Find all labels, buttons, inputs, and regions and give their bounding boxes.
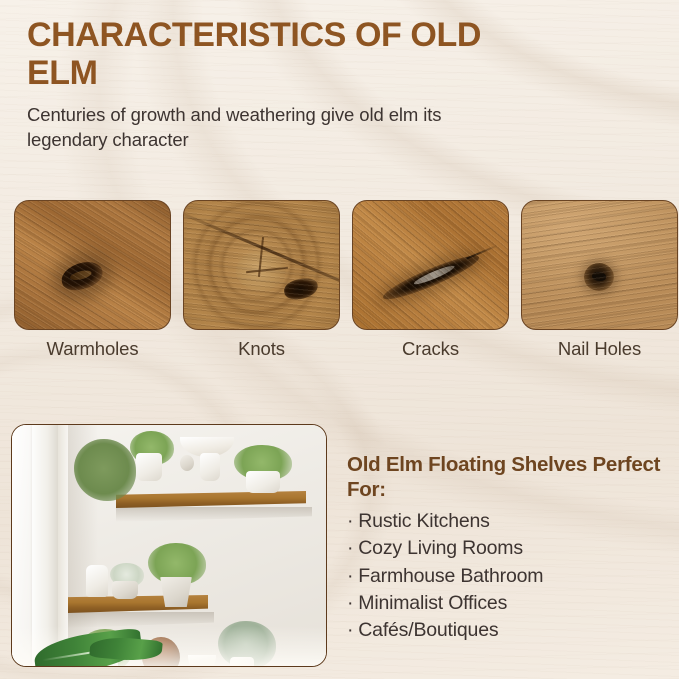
wood-crack-swatch [352,200,509,330]
floating-shelves-room-photo [11,424,327,667]
wood-knot-swatch [183,200,340,330]
warmhole-detail-icon [58,258,105,293]
uses-title: Old Elm Floating Shelves Perfect For: [347,452,667,502]
plant-olive-branch [74,439,136,501]
list-item: ·Minimalist Offices [347,590,667,617]
bullet-dot-icon: · [347,592,353,614]
page-subtitle: Centuries of growth and weathering give … [27,103,497,152]
pot-succulent [112,581,138,599]
crack-detail-icon [380,249,482,305]
uses-list: ·Rustic Kitchens ·Cozy Living Rooms ·Far… [347,508,667,644]
list-item: ·Farmhouse Bathroom [347,563,667,590]
page-title: CHARACTERISTICS OF OLD ELM [27,16,497,92]
pot-white-stone [246,471,280,493]
pot-small-round [180,455,194,471]
list-item: ·Cafés/Boutiques [347,617,667,644]
characteristic-card-knots: Knots [183,200,340,360]
list-item-label: Cozy Living Rooms [358,537,523,559]
bullet-dot-icon: · [347,510,353,532]
characteristic-label: Cracks [352,338,509,360]
characteristic-label: Knots [183,338,340,360]
wood-warmhole-swatch [14,200,171,330]
nail-hole-detail-icon [584,263,614,291]
characteristic-card-warmholes: Warmholes [14,200,171,360]
vase-ribbed-white [86,565,108,597]
list-item-label: Cafés/Boutiques [358,619,498,641]
knot-dark-blob-icon [283,277,319,302]
list-item: ·Rustic Kitchens [347,508,667,535]
list-item-label: Farmhouse Bathroom [358,565,543,587]
header-block: CHARACTERISTICS OF OLD ELM Centuries of … [27,16,497,152]
grain-seam-icon [183,207,340,292]
characteristic-label: Warmholes [14,338,171,360]
uses-block: Old Elm Floating Shelves Perfect For: ·R… [347,452,667,644]
list-item-label: Minimalist Offices [358,592,507,614]
characteristics-row: Warmholes Knots Cracks Nail Holes [14,200,666,360]
list-item: ·Cozy Living Rooms [347,535,667,562]
pot-white-textured [136,453,162,481]
list-item-label: Rustic Kitchens [358,510,489,532]
bullet-dot-icon: · [347,565,353,587]
characteristic-card-nail-holes: Nail Holes [521,200,678,360]
knot-crack-line-icon [246,267,288,273]
knot-crack-line-icon [258,237,264,277]
vase-white-cylinder [200,453,220,481]
knot-core-icon [236,251,286,291]
characteristic-card-cracks: Cracks [352,200,509,360]
wood-nail-hole-swatch [521,200,678,330]
bullet-dot-icon: · [347,537,353,559]
bullet-dot-icon: · [347,619,353,641]
characteristic-label: Nail Holes [521,338,678,360]
